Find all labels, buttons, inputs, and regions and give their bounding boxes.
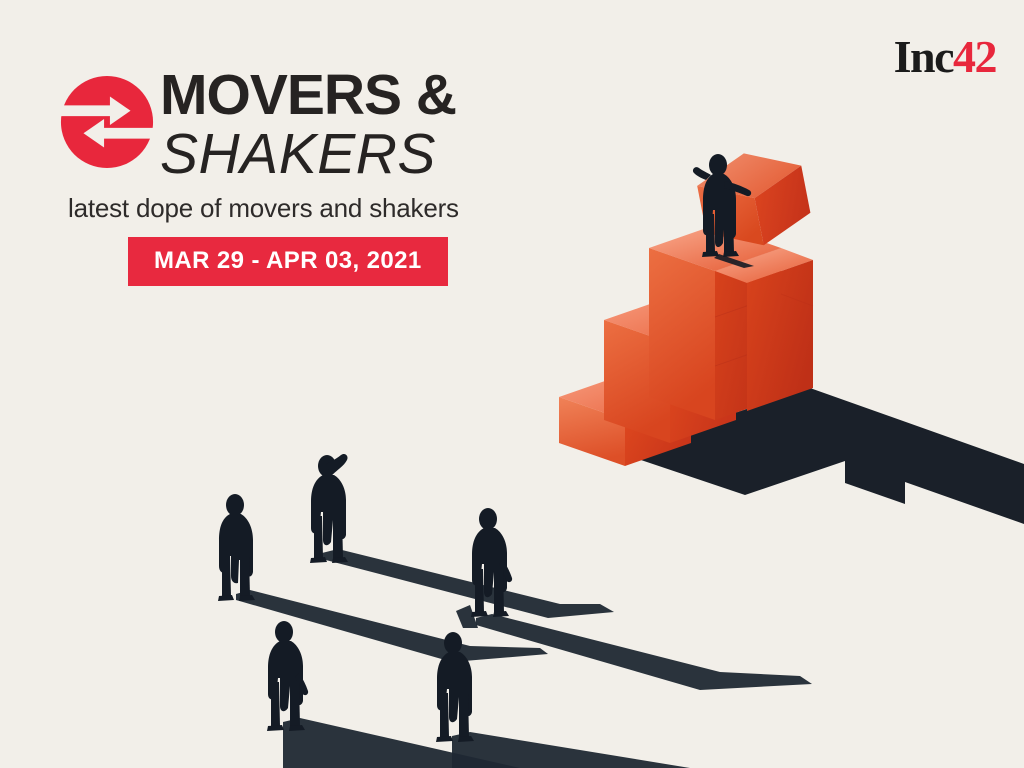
ground-figure-shadows — [236, 549, 812, 768]
ground-figure-1 — [218, 494, 255, 601]
page-title: MOVERS & SHAKERS — [160, 68, 680, 183]
title-line-movers: MOVERS & — [160, 68, 680, 124]
date-range-badge: MAR 29 - APR 03, 2021 — [128, 237, 448, 286]
ground-figure-2 — [310, 454, 348, 563]
movers-shakers-logo-icon — [58, 73, 156, 171]
inc42-logo[interactable]: Inc 42 — [894, 34, 996, 80]
tagline: latest dope of movers and shakers — [68, 193, 459, 224]
logo-circle — [61, 76, 153, 168]
poster-canvas: MOVERS & SHAKERS latest dope of movers a… — [0, 0, 1024, 768]
inc42-wordmark-42: 42 — [953, 34, 996, 80]
step-block-4 — [715, 248, 813, 411]
date-range-text: MAR 29 - APR 03, 2021 — [154, 247, 422, 274]
inc42-wordmark-inc: Inc — [894, 34, 953, 80]
ground-figure-4 — [267, 621, 308, 731]
title-line-shakers: SHAKERS — [160, 126, 680, 183]
